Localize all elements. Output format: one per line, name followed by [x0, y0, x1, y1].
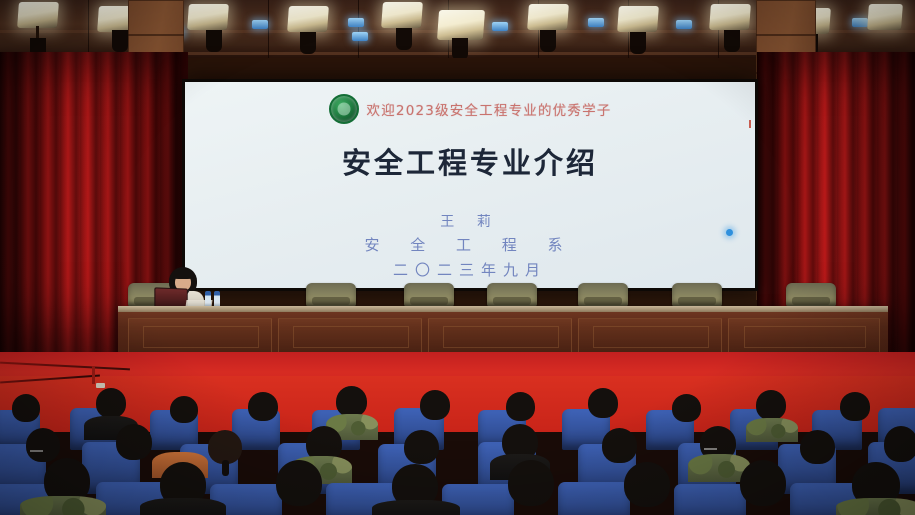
audience-head — [508, 460, 554, 506]
stage-spotlight-icon — [381, 2, 423, 28]
audience-head — [588, 388, 618, 418]
slide-header: 欢迎2023级安全工程专业的优秀学子 — [185, 94, 755, 124]
projection-screen: 欢迎2023级安全工程专业的优秀学子 安全工程专业介绍 王 莉 安 全 工 程 … — [185, 82, 755, 288]
audience-shoulders — [140, 498, 226, 515]
spotlight-housing — [452, 38, 468, 60]
stage-spotlight-icon — [17, 2, 59, 28]
stage-spotlight-icon — [867, 4, 903, 30]
audience-head — [170, 396, 198, 423]
stage-table — [118, 306, 888, 358]
audience-head — [248, 392, 278, 421]
projection-screen-frame: 欢迎2023级安全工程专业的优秀学子 安全工程专业介绍 王 莉 安 全 工 程 … — [182, 79, 758, 291]
spotlight-housing — [112, 30, 128, 52]
stage-chair — [578, 283, 628, 307]
spotlight-housing — [300, 32, 316, 54]
audience-head — [740, 460, 786, 506]
audience-head — [602, 428, 637, 463]
slide-department: 安 全 工 程 系 — [185, 234, 755, 255]
audience-glasses-icon — [30, 450, 43, 455]
blue-wash-light-icon — [252, 20, 268, 29]
laser-pointer-dot-icon — [726, 229, 733, 236]
audience-head — [336, 386, 367, 417]
blue-wash-light-icon — [352, 32, 368, 41]
stage-spotlight-icon — [709, 4, 751, 30]
audience-head — [404, 430, 439, 464]
stage-spotlight-icon — [187, 4, 229, 30]
audience-glasses-icon — [704, 448, 717, 453]
audience-head — [672, 394, 701, 422]
table-front-panel — [728, 318, 880, 354]
table-top-edge — [118, 306, 888, 312]
table-front-panel — [128, 318, 272, 354]
audience-head — [208, 430, 242, 464]
audience-camo-uniform — [836, 498, 915, 515]
spotlight-housing — [540, 30, 556, 52]
spotlight-housing — [630, 32, 646, 54]
university-emblem-icon — [329, 94, 359, 124]
auditorium-photo: 欢迎2023级安全工程专业的优秀学子 安全工程专业介绍 王 莉 安 全 工 程 … — [0, 0, 915, 515]
stage-spotlight-icon — [527, 4, 569, 30]
spotlight-housing — [724, 30, 740, 52]
slide-presenter-name: 王 莉 — [185, 211, 755, 231]
audience-camo-uniform — [746, 418, 798, 442]
audience-shoulders — [372, 500, 460, 515]
blue-wash-light-icon — [588, 18, 604, 27]
stage-chair — [306, 283, 356, 307]
audience-head — [420, 390, 450, 420]
audience-head — [840, 392, 870, 421]
audience-head — [12, 394, 40, 422]
audience-head — [26, 428, 60, 462]
stage-chair — [487, 283, 537, 307]
slide-main-title: 安全工程专业介绍 — [185, 140, 755, 182]
audience-head — [884, 426, 915, 462]
slide-date: 二〇二三年九月 — [185, 259, 755, 280]
audience-head — [800, 430, 835, 464]
stage-chair — [404, 283, 454, 307]
stage-spotlight-icon — [617, 6, 659, 32]
audience-seat — [558, 482, 630, 515]
audience-seat — [674, 484, 746, 515]
blue-wash-light-icon — [492, 22, 508, 31]
spotlight-housing — [396, 28, 412, 50]
spotlight-housing — [206, 30, 222, 52]
audience-head — [756, 390, 786, 420]
slide-red-mark — [749, 120, 751, 128]
stage-chair — [786, 283, 836, 307]
audience-head — [506, 392, 535, 421]
audience-area — [0, 376, 915, 515]
audience-head — [276, 460, 322, 506]
audience-ponytail — [222, 460, 229, 476]
blue-wash-light-icon — [348, 18, 364, 27]
slide-welcome-banner: 欢迎2023级安全工程专业的优秀学子 — [367, 99, 612, 119]
audience-camo-uniform — [20, 496, 106, 515]
stage-spotlight-icon — [437, 10, 485, 40]
blue-wash-light-icon — [676, 20, 692, 29]
table-front-panel — [428, 318, 572, 354]
blue-wash-light-icon — [852, 18, 868, 27]
presenter-fringe — [172, 270, 194, 279]
table-front-panel — [578, 318, 722, 354]
audience-head — [96, 388, 126, 418]
audience-head — [116, 424, 152, 460]
stage-chair — [672, 283, 722, 307]
stage-spotlight-icon — [287, 6, 329, 32]
audience-head — [624, 462, 670, 507]
table-front-panel — [278, 318, 422, 354]
